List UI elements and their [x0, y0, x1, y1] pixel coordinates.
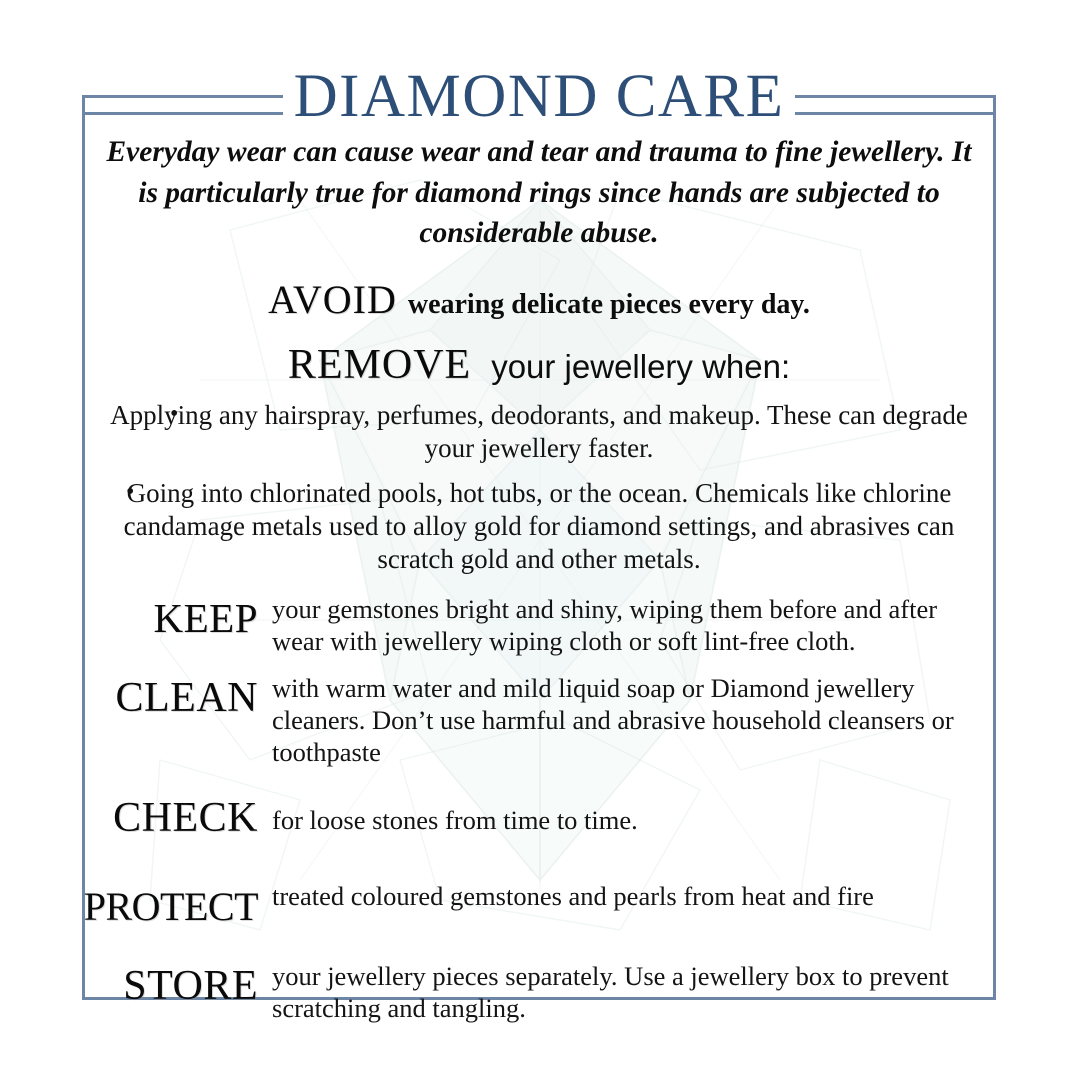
section-keep: KEEP your gemstones bright and shiny, wi… — [82, 594, 996, 658]
section-store: STORE your jewellery pieces separately. … — [82, 961, 996, 1025]
remove-bullet-list: • Applying any hairspray, perfumes, deod… — [82, 399, 996, 576]
section-text: treated coloured gemstones and pearls fr… — [272, 881, 996, 913]
care-instructions: Everyday wear can cause wear and tear an… — [82, 132, 996, 1024]
remove-row: REMOVE your jewellery when: — [82, 341, 996, 389]
section-text: your jewellery pieces separately. Use a … — [272, 961, 996, 1025]
list-item: • Applying any hairspray, perfumes, deod… — [82, 399, 996, 465]
section-keyword: STORE — [82, 965, 272, 1007]
bullet-icon: • — [170, 399, 178, 430]
section-text: for loose stones from time to time. — [272, 805, 996, 837]
section-keyword: KEEP — [82, 598, 272, 639]
section-check: CHECK for loose stones from time to time… — [82, 795, 996, 837]
remove-text: your jewellery when: — [491, 348, 790, 386]
avoid-keyword: AVOID — [268, 276, 397, 323]
avoid-text: wearing delicate pieces every day. — [408, 289, 810, 321]
section-text: your gemstones bright and shiny, wiping … — [272, 594, 996, 658]
avoid-row: AVOID wearing delicate pieces every day. — [82, 276, 996, 323]
intro-paragraph: Everyday wear can cause wear and tear an… — [82, 132, 996, 254]
list-item-text: Applying any hairspray, perfumes, deodor… — [110, 400, 968, 463]
list-item-text: Going into chlorinated pools, hot tubs, … — [124, 478, 955, 574]
section-text: with warm water and mild liquid soap or … — [272, 673, 996, 768]
section-keyword: CHECK — [82, 797, 272, 839]
list-item: • Going into chlorinated pools, hot tubs… — [82, 477, 996, 576]
section-keyword: PROTECT — [82, 887, 272, 927]
section-clean: CLEAN with warm water and mild liquid so… — [82, 673, 996, 768]
section-keyword: CLEAN — [82, 677, 272, 719]
remove-keyword: REMOVE — [288, 341, 471, 389]
section-protect: PROTECT treated coloured gemstones and p… — [82, 881, 996, 921]
bullet-icon: • — [126, 477, 134, 508]
